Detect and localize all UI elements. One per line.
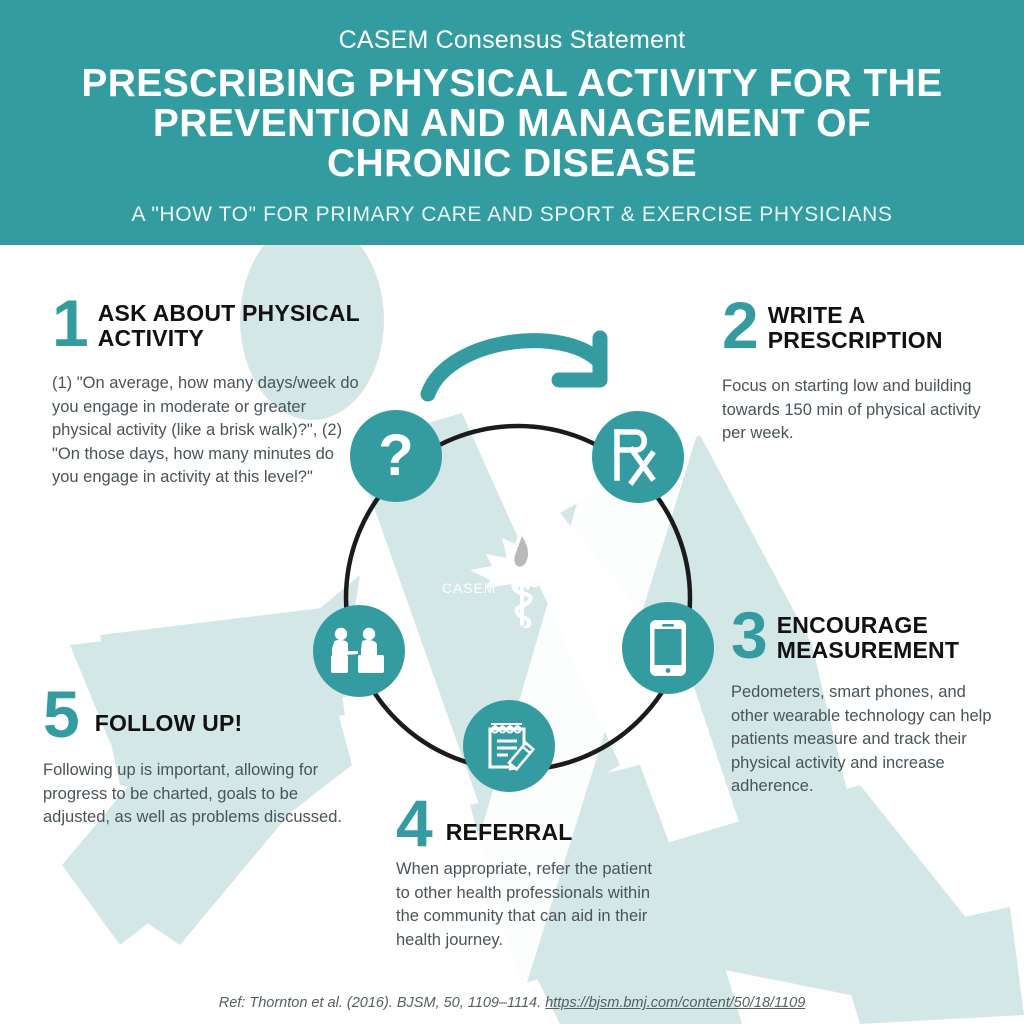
step-5-body: Following up is important, allowing for …	[43, 759, 343, 830]
step-3-title: ENCOURAGE MEASUREMENT	[777, 608, 1006, 663]
step-2-number: 2	[722, 298, 759, 352]
step-1-body: (1) "On average, how many days/week do y…	[52, 372, 362, 490]
infographic-canvas: CASEM Consensus Statement PRESCRIBING PH…	[0, 0, 1024, 1024]
step-2-heading: 2 WRITE A PRESCRIPTION	[722, 298, 992, 353]
rx-prescription-icon	[608, 426, 668, 488]
step-2-body: Focus on starting low and building towar…	[722, 375, 992, 446]
node-ask-about-physical-activity[interactable]: ?	[350, 410, 442, 502]
step-4-referral: 4 REFERRAL When appropriate, refer the p…	[396, 798, 661, 952]
casem-logo: CASEM ACMSE	[432, 518, 612, 628]
step-3-encourage-measurement: 3 ENCOURAGE MEASUREMENT Pedometers, smar…	[731, 608, 1006, 799]
smartphone-icon	[649, 619, 687, 677]
notepad-pencil-icon	[480, 717, 538, 775]
header-kicker: CASEM Consensus Statement	[0, 26, 1024, 55]
footer-citation: Ref: Thornton et al. (2016). BJSM, 50, 1…	[0, 995, 1024, 1011]
step-1-number: 1	[52, 296, 89, 350]
step-5-heading: 5 FOLLOW UP!	[43, 689, 343, 739]
flow-arrow-icon	[414, 318, 634, 408]
header-subtitle: A "HOW TO" FOR PRIMARY CARE AND SPORT & …	[0, 203, 1024, 227]
step-4-body: When appropriate, refer the patient to o…	[396, 858, 661, 952]
node-write-a-prescription[interactable]	[592, 411, 684, 503]
node-follow-up[interactable]	[313, 605, 405, 697]
step-4-heading: 4 REFERRAL	[396, 798, 661, 848]
maple-leaf-rod-of-asclepius-icon	[432, 518, 612, 628]
logo-label-acmse: ACMSE	[554, 580, 608, 596]
step-3-heading: 3 ENCOURAGE MEASUREMENT	[731, 608, 1006, 663]
step-2-title: WRITE A PRESCRIPTION	[768, 298, 992, 353]
two-people-consultation-icon	[328, 625, 390, 677]
step-4-number: 4	[396, 798, 433, 848]
step-5-number: 5	[43, 689, 80, 739]
node-referral[interactable]	[463, 700, 555, 792]
node-encourage-measurement[interactable]	[622, 602, 714, 694]
page-title: PRESCRIBING PHYSICAL ACTIVITY FOR THE PR…	[62, 64, 962, 184]
citation-text: Ref: Thornton et al. (2016). BJSM, 50, 1…	[219, 995, 541, 1011]
question-mark-icon: ?	[378, 427, 413, 485]
citation-link[interactable]: https://bjsm.bmj.com/content/50/18/1109	[545, 995, 805, 1011]
step-5-title: FOLLOW UP!	[95, 706, 243, 739]
step-1-ask-about-physical-activity: 1 ASK ABOUT PHYSICAL ACTIVITY (1) "On av…	[52, 296, 362, 490]
logo-label-casem: CASEM	[442, 580, 496, 596]
step-2-write-a-prescription: 2 WRITE A PRESCRIPTION Focus on starting…	[722, 298, 992, 446]
step-3-number: 3	[731, 608, 768, 662]
step-3-body: Pedometers, smart phones, and other wear…	[731, 681, 1006, 799]
step-4-title: REFERRAL	[446, 815, 573, 848]
step-1-title: ASK ABOUT PHYSICAL ACTIVITY	[98, 296, 362, 351]
step-1-heading: 1 ASK ABOUT PHYSICAL ACTIVITY	[52, 296, 362, 351]
step-5-follow-up: 5 FOLLOW UP! Following up is important, …	[43, 689, 343, 830]
header-banner: CASEM Consensus Statement PRESCRIBING PH…	[0, 0, 1024, 245]
